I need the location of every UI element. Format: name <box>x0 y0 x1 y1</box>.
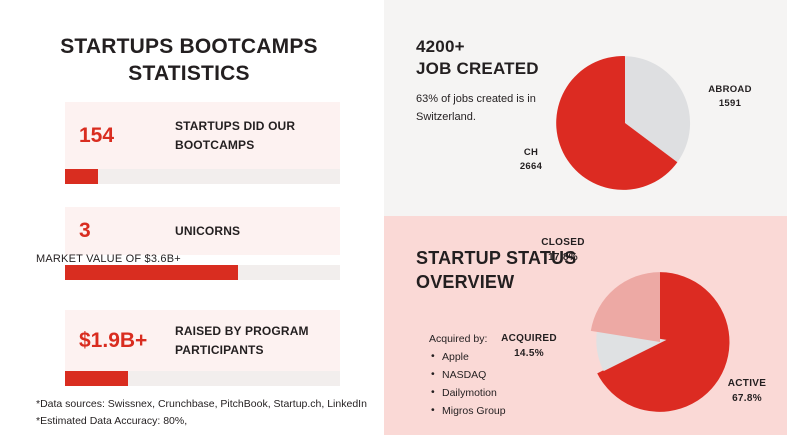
footnote-data-accuracy: *Estimated Data Accuracy: 80%, <box>36 413 367 430</box>
stat-label-unicorns: UNICORNS <box>175 222 240 241</box>
jobs-created-panel: 4200+ JOB CREATED 63% of jobs created is… <box>384 0 787 216</box>
startup-status-panel: STARTUP STATUS OVERVIEW Acquired by: App… <box>384 216 787 435</box>
jobs-headline-text: JOB CREATED <box>416 58 539 80</box>
stat-value-startups: 154 <box>79 124 175 148</box>
progress-bar-startups-fill <box>65 169 98 184</box>
jobs-pie-label-abroad: ABROAD 1591 <box>691 83 769 112</box>
stat-label-startups-line-2: BOOTCAMPS <box>175 136 295 155</box>
page-title-line-2: STATISTICS <box>26 60 352 87</box>
progress-bar-unicorns <box>65 265 340 280</box>
status-label-closed-name: CLOSED <box>519 235 607 250</box>
status-pie-label-closed: CLOSED 17.8% <box>519 235 607 265</box>
jobs-pie-chart <box>556 54 694 192</box>
jobs-label-ch-name: CH <box>504 146 558 160</box>
acquired-by-list: Apple NASDAQ Dailymotion Migros Group <box>429 352 506 417</box>
bootcamp-statistics-panel: STARTUPS BOOTCAMPS STATISTICS 154 STARTU… <box>0 0 378 435</box>
list-item: Dailymotion <box>442 388 506 399</box>
page-title: STARTUPS BOOTCAMPS STATISTICS <box>26 33 352 88</box>
status-label-active-value: 67.8% <box>713 391 781 406</box>
status-pie-label-acquired: ACQUIRED 14.5% <box>484 331 574 361</box>
stat-card-raised: $1.9B+ RAISED BY PROGRAM PARTICIPANTS <box>65 310 340 372</box>
status-label-closed-value: 17.8% <box>519 250 607 265</box>
footnote-data-sources: *Data sources: Swissnex, Crunchbase, Pit… <box>36 396 367 413</box>
stat-card-unicorns: 3 UNICORNS <box>65 207 340 255</box>
jobs-pie-label-ch: CH 2664 <box>504 146 558 175</box>
list-item: NASDAQ <box>442 370 506 381</box>
stat-label-raised-line-1: RAISED BY PROGRAM <box>175 322 309 341</box>
status-label-acquired-value: 14.5% <box>484 346 574 361</box>
progress-bar-startups <box>65 169 340 184</box>
stat-label-startups-line-1: STARTUPS DID OUR <box>175 117 295 136</box>
stat-label-unicorns-line-1: UNICORNS <box>175 222 240 241</box>
status-title-line-2: OVERVIEW <box>416 271 576 295</box>
progress-bar-raised-fill <box>65 371 128 386</box>
jobs-subtext: 63% of jobs created is in Switzerland. <box>416 91 551 127</box>
stat-value-raised: $1.9B+ <box>79 329 175 353</box>
status-pie-slice-closed <box>591 272 660 342</box>
progress-bar-raised <box>65 371 340 386</box>
stat-value-unicorns: 3 <box>79 219 175 243</box>
page-title-line-1: STARTUPS BOOTCAMPS <box>26 33 352 60</box>
status-label-acquired-name: ACQUIRED <box>484 331 574 346</box>
status-pie-chart <box>588 270 732 414</box>
jobs-label-abroad-name: ABROAD <box>691 83 769 97</box>
market-value-caption: MARKET VALUE OF $3.6B+ <box>36 253 181 265</box>
footnotes: *Data sources: Swissnex, Crunchbase, Pit… <box>36 396 367 431</box>
status-label-active-name: ACTIVE <box>713 376 781 391</box>
stat-label-raised: RAISED BY PROGRAM PARTICIPANTS <box>175 322 309 359</box>
jobs-label-ch-value: 2664 <box>504 160 558 174</box>
infographic-root: STARTUPS BOOTCAMPS STATISTICS 154 STARTU… <box>0 0 787 435</box>
progress-bar-unicorns-fill <box>65 265 238 280</box>
jobs-headline-count: 4200+ <box>416 36 539 58</box>
stat-card-startups: 154 STARTUPS DID OUR BOOTCAMPS <box>65 102 340 170</box>
list-item: Migros Group <box>442 406 506 417</box>
stat-label-startups: STARTUPS DID OUR BOOTCAMPS <box>175 117 295 154</box>
stat-label-raised-line-2: PARTICIPANTS <box>175 341 309 360</box>
jobs-headline: 4200+ JOB CREATED <box>416 36 539 80</box>
jobs-label-abroad-value: 1591 <box>691 97 769 111</box>
status-pie-label-active: ACTIVE 67.8% <box>713 376 781 406</box>
